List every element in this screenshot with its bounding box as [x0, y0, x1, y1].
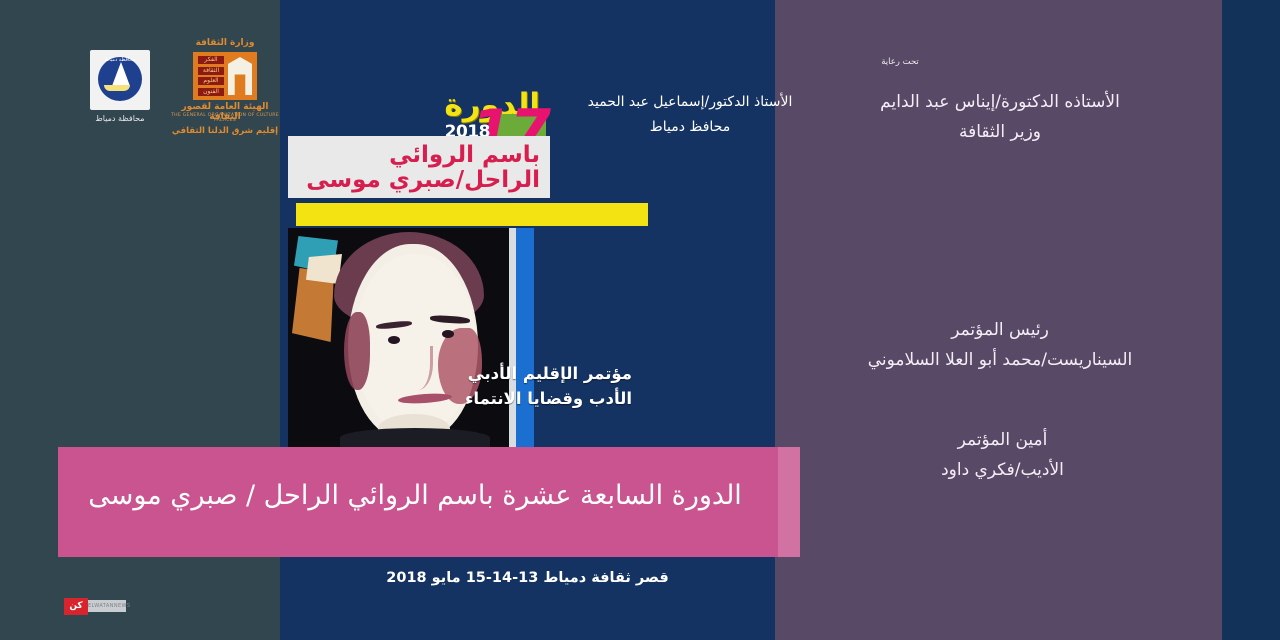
background-panel-far-right [1222, 0, 1280, 640]
watermark-bar-text: ELWATANNEWS [88, 600, 126, 612]
portrait-photo [288, 228, 534, 448]
president-role: رئيس المؤتمر [790, 316, 1210, 346]
culture-word-3: الفنون [198, 88, 224, 96]
minister-name: الأستاذه الدكتورة/إيناس عبد الدايم [790, 88, 1210, 118]
watermark-bar: ELWATANNEWS [88, 600, 126, 612]
secretary-role: أمين المؤتمر [830, 426, 1175, 456]
region-label: إقليم شرق الدلتا الثقافي [170, 126, 280, 136]
event-name: مؤتمر الإقليم الأدبي الأدب وقضايا الانتم… [400, 362, 632, 412]
culture-word-0: الفكر [198, 56, 224, 64]
portrait-eye-right [442, 330, 454, 338]
culture-word-1: الثقافة [198, 67, 224, 75]
photo-light-strip [509, 228, 516, 448]
title-plate: باسم الروائي الراحل/صبري موسى [288, 136, 550, 198]
secretary-block: أمين المؤتمر الأديب/فكري داود [830, 426, 1175, 486]
portrait-shoulder [340, 428, 490, 448]
portrait-cheek-left [344, 312, 370, 390]
photo-blue-strip [516, 228, 534, 448]
source-watermark: كن ELWATANNEWS [64, 598, 126, 615]
minister-role: وزير الثقافة [790, 118, 1210, 148]
title-line-2: الراحل/صبري موسى [306, 169, 540, 192]
boat-hull-icon [104, 85, 130, 91]
ministry-label: وزارة الثقافة [172, 38, 278, 48]
event-name-line-2: الأدب وقضايا الانتماء [400, 387, 632, 412]
president-name: السيناريست/محمد أبو العلا السلاموني [790, 346, 1210, 376]
watermark-mark-text: كن [64, 598, 88, 615]
culture-word-2: العلوم [198, 77, 224, 85]
portrait-eye-left [388, 336, 400, 344]
logo-block: محافظة دمياط محافظة دمياط وزارة الثقافة … [78, 38, 278, 143]
yellow-accent-bar [296, 203, 648, 226]
minister-block: الأستاذه الدكتورة/إيناس عبد الدايم وزير … [790, 88, 1210, 148]
damietta-logo-caption: محافظة دمياط [86, 114, 154, 123]
president-block: رئيس المؤتمر السيناريست/محمد أبو العلا ا… [790, 316, 1210, 376]
watermark-mark: كن [64, 598, 88, 615]
secretary-name: الأديب/فكري داود [830, 456, 1175, 486]
session-banner-tail [778, 447, 800, 557]
patronage-label: تحت رعاية [860, 57, 940, 67]
session-banner: الدورة السابعة عشرة باسم الروائي الراحل … [58, 447, 800, 557]
culture-logo-words: الفكر الثقافة العلوم الفنون [198, 56, 224, 96]
organization-name-english: THE GENERAL ORGANIZATION OF CULTURE PALA… [170, 113, 280, 123]
culture-logo-mark: الفكر الثقافة العلوم الفنون [193, 52, 257, 100]
conference-poster: محافظة دمياط محافظة دمياط وزارة الثقافة … [0, 0, 1280, 640]
culture-palaces-logo: وزارة الثقافة الفكر الثقافة العلوم الفنو… [172, 38, 278, 141]
session-banner-text: الدورة السابعة عشرة باسم الروائي الراحل … [58, 481, 772, 511]
poster-artwork: الدورة 17 2018 باسم الروائي الراحل/صبري … [288, 86, 648, 462]
damietta-governorate-logo: محافظة دمياط محافظة دمياط [90, 50, 150, 132]
venue-and-dates: قصر ثقافة دمياط 13-14-15 مايو 2018 [280, 570, 775, 586]
event-name-line-1: مؤتمر الإقليم الأدبي [400, 362, 632, 387]
sailboat-icon [112, 62, 130, 86]
palace-building-icon [228, 57, 252, 95]
title-line-1: باسم الروائي [389, 144, 540, 167]
